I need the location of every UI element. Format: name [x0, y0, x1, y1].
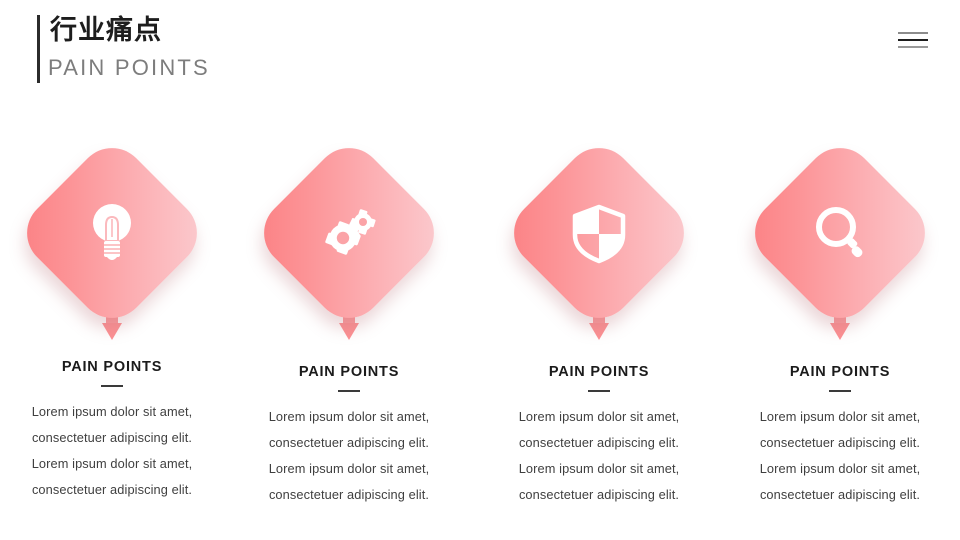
desc-line: consectetuer adipiscing elit. [0, 477, 232, 503]
hamburger-menu-icon[interactable] [898, 28, 930, 52]
desc-line: consectetuer adipiscing elit. [479, 482, 719, 508]
desc-line: Lorem ipsum dolor sit amet, [720, 404, 960, 430]
diamond-badge-2 [261, 145, 437, 321]
magnifier-icon [804, 197, 876, 269]
arrow-head [339, 323, 359, 340]
desc-line: consectetuer adipiscing elit. [720, 430, 960, 456]
desc-line: consectetuer adipiscing elit. [229, 430, 469, 456]
desc-line: Lorem ipsum dolor sit amet, [0, 399, 232, 425]
desc-line: Lorem ipsum dolor sit amet, [479, 404, 719, 430]
desc-line: consectetuer adipiscing elit. [479, 430, 719, 456]
desc-line: Lorem ipsum dolor sit amet, [0, 451, 232, 477]
desc-line: consectetuer adipiscing elit. [720, 482, 960, 508]
hamburger-bar-middle [898, 39, 928, 41]
card-title: PAIN POINTS [720, 363, 960, 381]
diamond-badge-4 [752, 145, 928, 321]
card-text-block: PAIN POINTS Lorem ipsum dolor sit amet, … [479, 363, 719, 508]
desc-line: consectetuer adipiscing elit. [229, 482, 469, 508]
card-title: PAIN POINTS [0, 358, 232, 376]
card-description: Lorem ipsum dolor sit amet, consectetuer… [0, 399, 232, 503]
card-title: PAIN POINTS [229, 363, 469, 381]
arrow-head [830, 323, 850, 340]
desc-line: consectetuer adipiscing elit. [0, 425, 232, 451]
header-accent-rule [37, 15, 40, 83]
card-divider [338, 390, 360, 392]
slide-header: 行业痛点 PAIN POINTS [0, 0, 960, 100]
card-title: PAIN POINTS [479, 363, 719, 381]
diamond-badge-1 [24, 145, 200, 321]
arrow-head [102, 323, 122, 340]
card-divider [588, 390, 610, 392]
diamond-badge-3 [511, 145, 687, 321]
card-text-block: PAIN POINTS Lorem ipsum dolor sit amet, … [229, 363, 469, 508]
card-divider [101, 385, 123, 387]
pain-point-card-3[interactable]: PAIN POINTS Lorem ipsum dolor sit amet, … [479, 145, 719, 515]
card-description: Lorem ipsum dolor sit amet, consectetuer… [479, 404, 719, 508]
desc-line: Lorem ipsum dolor sit amet, [720, 456, 960, 482]
desc-line: Lorem ipsum dolor sit amet, [229, 456, 469, 482]
page-title-cn: 行业痛点 [50, 13, 162, 47]
desc-line: Lorem ipsum dolor sit amet, [229, 404, 469, 430]
page-title-en: PAIN POINTS [48, 54, 210, 82]
lightbulb-icon [76, 197, 148, 269]
pain-point-card-2[interactable]: PAIN POINTS Lorem ipsum dolor sit amet, … [229, 145, 469, 515]
card-text-block: PAIN POINTS Lorem ipsum dolor sit amet, … [720, 363, 960, 508]
arrow-head [589, 323, 609, 340]
pain-point-card-4[interactable]: PAIN POINTS Lorem ipsum dolor sit amet, … [720, 145, 960, 515]
card-text-block: PAIN POINTS Lorem ipsum dolor sit amet, … [0, 358, 232, 503]
shield-icon [563, 197, 635, 269]
gears-icon [313, 197, 385, 269]
card-description: Lorem ipsum dolor sit amet, consectetuer… [229, 404, 469, 508]
hamburger-bar-bottom [898, 46, 928, 48]
pain-point-card-1[interactable]: PAIN POINTS Lorem ipsum dolor sit amet, … [0, 145, 232, 515]
hamburger-bar-top [898, 32, 928, 34]
card-description: Lorem ipsum dolor sit amet, consectetuer… [720, 404, 960, 508]
desc-line: Lorem ipsum dolor sit amet, [479, 456, 719, 482]
card-divider [829, 390, 851, 392]
